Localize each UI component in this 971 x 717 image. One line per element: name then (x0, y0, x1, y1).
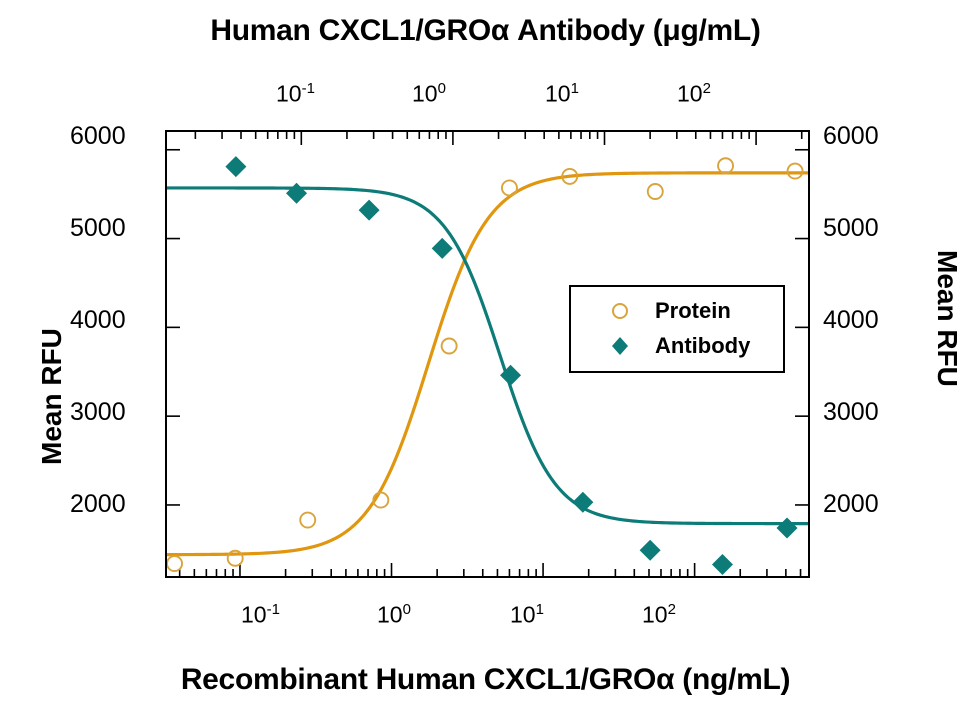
right-ytick-label-5000: 5000 (823, 214, 879, 243)
bottom-tick-label-2: 101 (510, 601, 544, 629)
protein-point (442, 339, 457, 354)
open-circle-icon (607, 294, 633, 328)
right-ytick-label-4000: 4000 (823, 306, 879, 335)
legend-label-protein: Protein (655, 294, 731, 328)
left-ytick-label-6000: 6000 (70, 122, 126, 151)
left-ytick-label-5000: 5000 (70, 214, 126, 243)
antibody-point (572, 492, 593, 513)
right-ytick-label-3000: 3000 (823, 398, 879, 427)
top-tick-label-0: 10-1 (276, 80, 315, 108)
filled-diamond-icon (607, 329, 633, 363)
antibody-point (359, 200, 380, 221)
top-axis-title-greek: α (491, 14, 509, 47)
antibody-point (640, 540, 661, 561)
protein-point (718, 158, 733, 173)
antibody-point (225, 156, 246, 177)
antibody-point (432, 238, 453, 259)
left-ytick-label-2000: 2000 (70, 490, 126, 519)
bottom-axis-title-pre: Recombinant Human CXCL1/GRO (181, 663, 656, 696)
top-tick-label-3: 102 (677, 80, 711, 108)
legend-entry-protein: Protein (571, 294, 783, 328)
protein-point (788, 164, 803, 179)
right-ytick-label-2000: 2000 (823, 490, 879, 519)
left-axis-ticks (167, 150, 180, 505)
right-ytick-label-6000: 6000 (823, 122, 879, 151)
legend-entry-antibody: Antibody (571, 329, 783, 363)
left-ytick-label-4000: 4000 (70, 306, 126, 335)
top-axis-title: Human CXCL1/GROα Antibody (μg/mL) (0, 14, 971, 48)
protein-point (502, 180, 517, 195)
top-axis-title-pre: Human CXCL1/GRO (210, 14, 491, 47)
bottom-axis-ticks (180, 563, 801, 576)
left-axis-title: Mean RFU (36, 328, 68, 465)
protein-point (167, 556, 182, 571)
bottom-tick-label-3: 102 (642, 601, 676, 629)
top-tick-label-1: 100 (412, 80, 446, 108)
protein-point (300, 513, 315, 528)
bottom-tick-label-1: 100 (377, 601, 411, 629)
legend-label-antibody: Antibody (655, 329, 750, 363)
antibody-point (286, 183, 307, 204)
bottom-tick-label-0: 10-1 (241, 601, 280, 629)
left-ytick-label-3000: 3000 (70, 398, 126, 427)
legend: Protein Antibody (569, 285, 785, 373)
top-axis-ticks (195, 132, 801, 145)
bottom-axis-title-greek: α (656, 663, 674, 696)
right-axis-ticks (795, 150, 808, 505)
bottom-axis-title: Recombinant Human CXCL1/GROα (ng/mL) (0, 663, 971, 697)
bottom-axis-title-post: (ng/mL) (674, 663, 790, 696)
top-tick-label-2: 101 (545, 80, 579, 108)
protein-point (648, 184, 663, 199)
antibody-point (712, 554, 733, 575)
antibody-point (777, 518, 798, 539)
top-axis-title-post: Antibody (μg/mL) (509, 14, 761, 47)
right-axis-title: Mean RFU (931, 250, 963, 387)
chart-page: Human CXCL1/GROα Antibody (μg/mL) 10-1 1… (0, 0, 971, 717)
